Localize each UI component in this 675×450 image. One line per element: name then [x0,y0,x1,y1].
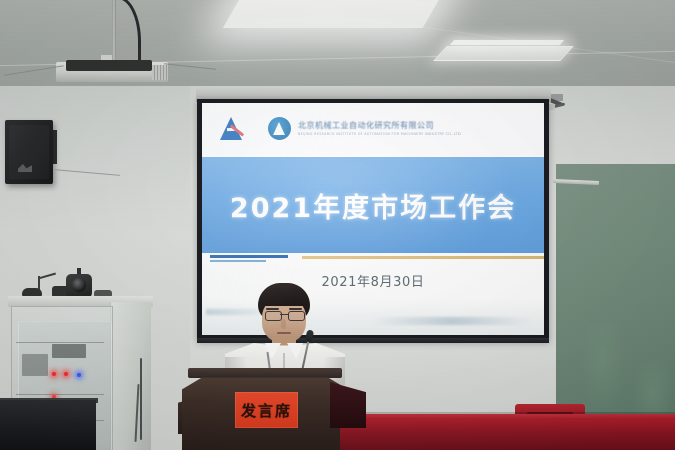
ceiling-light-tube [450,40,565,45]
camera-lens [72,278,86,292]
podium-sign-label: 发言席 [241,400,292,421]
logo-company-name-cn: 北京机械工业自动化研究所有限公司 [298,120,434,131]
wall-speaker [5,120,53,184]
person-eyebrow [266,308,279,310]
eyeglasses-icon [265,311,303,319]
rack-side-panel [110,302,151,450]
rack-led-red [52,372,56,376]
company-triangle-logo [220,117,244,141]
person-hair-front [259,289,309,306]
rack-cable [140,358,142,440]
rack-led-red [64,372,68,376]
slide-accent-line-gold [302,256,544,259]
person-mouth [277,332,291,334]
front-desk-left [0,400,96,450]
ceiling-light-panel-far [433,46,574,61]
slide-accent-line-blue [210,255,288,258]
projector-vent [152,65,168,80]
ceiling-light-panel [223,0,450,28]
rack-device [22,354,48,376]
rack-shelf [16,342,104,343]
slide-title-band: 2021年度市场工作会 [202,157,544,253]
person-nose [281,319,286,329]
slide-footer-graphic [372,317,532,325]
chalkboard-smudge [580,324,626,416]
rack-device [52,344,86,358]
podium: 发言席 [182,368,348,450]
red-table [340,418,675,450]
chalkboard [556,164,675,422]
projector-top-plate [66,60,152,71]
slide-logo-bar: 北京机械工业自动化研究所有限公司 BEIJING RESEARCH INSTIT… [202,103,544,155]
slide-accent-line-blue [210,260,266,262]
logo-company-name-en: BEIJING RESEARCH INSTITUTE OF AUTOMATION… [298,132,461,136]
institute-circle-logo [268,117,292,141]
conference-room-scene: 北京机械工业自动化研究所有限公司 BEIJING RESEARCH INSTIT… [0,0,675,450]
rack-led-blue [77,373,81,377]
slide-title: 2021年度市场工作会 [202,157,544,253]
person-eyebrow [289,308,302,310]
rack-shelf [16,394,104,395]
podium-top [188,368,342,378]
podium-sign: 发言席 [235,392,298,428]
ceiling-projector [56,54,168,82]
